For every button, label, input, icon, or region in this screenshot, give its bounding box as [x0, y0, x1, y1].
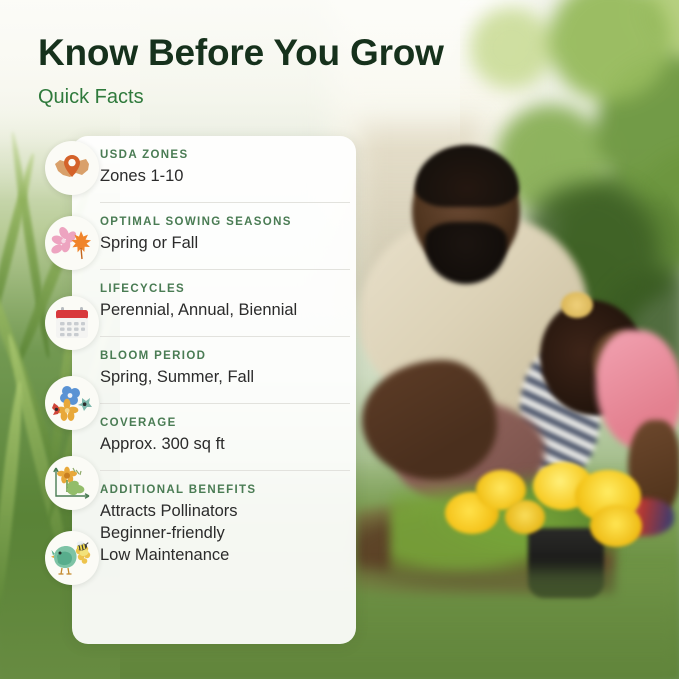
photo-flower — [590, 505, 642, 547]
photo-flower — [505, 500, 545, 534]
usa-map-pin-icon — [52, 151, 92, 185]
fact-value: Perennial, Annual, Biennial — [100, 300, 340, 322]
bird-bee-icon-badge — [45, 531, 99, 585]
blossom-maple-leaf-icon — [51, 225, 93, 261]
fact-row-lifecycles: LIFECYCLES Perennial, Annual, Biennial — [100, 269, 350, 336]
calendar-icon — [53, 305, 91, 341]
usa-map-pin-icon-badge — [45, 141, 99, 195]
fact-row-optimal-sowing-seasons: OPTIMAL SOWING SEASONS Spring or Fall — [100, 202, 350, 269]
fact-row-bloom-period: BLOOM PERIOD Spring, Summer, Fall — [100, 336, 350, 403]
page-subtitle: Quick Facts — [38, 86, 144, 109]
flowers-icon-badge — [45, 376, 99, 430]
page-title: Know Before You Grow — [38, 32, 444, 74]
coverage-area-flower-icon-badge — [45, 456, 99, 510]
fact-row-usda-zones: USDA ZONES Zones 1-10 — [100, 136, 350, 202]
photo-girl-hair-tie — [561, 292, 593, 318]
fact-value: Spring or Fall — [100, 233, 340, 255]
photo-title-overlay — [0, 0, 460, 150]
fact-label: COVERAGE — [100, 417, 340, 429]
infographic-root: Know Before You Grow Quick Facts USDA ZO… — [0, 0, 679, 679]
coverage-area-flower-icon — [52, 465, 92, 501]
fact-row-additional-benefits: ADDITIONAL BENEFITS Attracts Pollinators… — [100, 470, 350, 581]
fact-label: BLOOM PERIOD — [100, 350, 340, 362]
fact-label: LIFECYCLES — [100, 283, 340, 295]
fact-label: OPTIMAL SOWING SEASONS — [100, 216, 340, 228]
bird-bee-icon — [51, 540, 93, 576]
fact-value: Zones 1-10 — [100, 166, 340, 188]
quick-facts-list: USDA ZONES Zones 1-10 OPTIMAL SOWING SEA… — [100, 136, 350, 644]
fact-row-coverage: COVERAGE Approx. 300 sq ft — [100, 403, 350, 470]
fact-value: Approx. 300 sq ft — [100, 434, 340, 456]
blossom-maple-leaf-icon-badge — [45, 216, 99, 270]
fact-value: Spring, Summer, Fall — [100, 367, 340, 389]
flowers-icon — [51, 384, 93, 422]
calendar-icon-badge — [45, 296, 99, 350]
fact-value: Attracts Pollinators Beginner-friendly L… — [100, 501, 340, 567]
fact-label: USDA ZONES — [100, 149, 340, 161]
fact-label: ADDITIONAL BENEFITS — [100, 484, 340, 496]
